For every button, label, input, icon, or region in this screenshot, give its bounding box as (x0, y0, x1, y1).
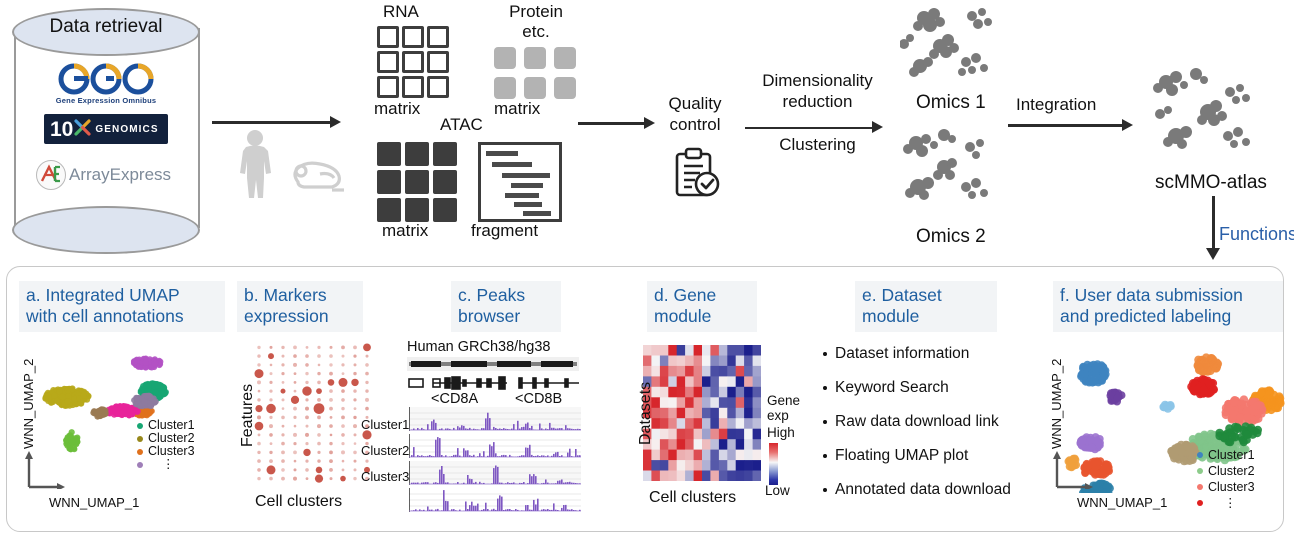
scmmo-atlas-label: scMMO-atlas (1155, 172, 1267, 194)
legend-swatch (137, 423, 143, 429)
functions-panel-container: a. Integrated UMAP with cell annotations… (6, 266, 1284, 532)
panel-c-track-label-3: Cluster3 (361, 469, 409, 484)
panel-f-title[interactable]: f. User data submission and predicted la… (1053, 281, 1283, 332)
panel-d-heatmap[interactable] (643, 345, 761, 481)
panel-c-gene-cd8b: <CD8B (515, 391, 562, 407)
panel-d-colorbar-high: High (767, 425, 795, 440)
panel-b-ylabel: Features (239, 384, 257, 447)
arrow-omics-to-qc (578, 122, 648, 125)
protein-matrix-icon (494, 47, 576, 99)
scmmo-atlas-cluster-icon (1148, 60, 1274, 170)
panel-a-ylabel: WNN_UMAP_2 (21, 359, 36, 449)
omics2-cluster-icon (900, 125, 1036, 211)
data-retrieval-title: Data retrieval (8, 16, 204, 38)
legend-item: ⋮ (137, 458, 195, 471)
list-item[interactable]: Dataset information (823, 345, 1053, 362)
omics2-label: Omics 2 (916, 226, 986, 248)
legend-item: Cluster1 (1197, 447, 1255, 463)
mouse-silhouette-icon (284, 152, 346, 203)
panel-f-ylabel: WNN_UMAP_2 (1049, 359, 1064, 449)
panel-a-legend[interactable]: Cluster1 Cluster2 Cluster3 ⋮ (137, 419, 195, 471)
atac-title: ATAC (440, 115, 483, 135)
quality-control-label: Quality control (652, 93, 738, 135)
panel-c-track-label-2: Cluster2 (361, 443, 409, 458)
list-item[interactable]: Raw data download link (823, 413, 1053, 430)
panel-b-xlabel: Cell clusters (255, 493, 342, 511)
tenx-genomics-logo: 10 GENOMICS (44, 114, 168, 144)
panel-f-legend[interactable]: Cluster1 Cluster2 Cluster3 ⋮ (1197, 447, 1255, 511)
arrayexpress-logo: ArrayExpress (36, 158, 184, 192)
rna-matrix-caption: matrix (374, 99, 420, 119)
panel-d-colorbar (769, 443, 778, 485)
legend-swatch (137, 449, 143, 455)
legend-swatch (1197, 452, 1203, 458)
panel-b-title[interactable]: b. Markers expression (237, 281, 363, 332)
geo-logo-caption: Gene Expression Omnibus (48, 96, 164, 105)
panel-c-gene-cd8a: <CD8A (431, 391, 478, 407)
list-item-label: Dataset information (835, 345, 969, 362)
list-item[interactable]: Keyword Search (823, 379, 1053, 396)
data-retrieval-cylinder: Data retrieval Gene Expression Omnibus 1… (8, 6, 204, 252)
bullet-icon (823, 488, 827, 492)
atac-matrix-caption: matrix (382, 221, 428, 241)
legend-item: Cluster3 (1197, 479, 1255, 495)
panel-c-genome-label: Human GRCh38/hg38 (407, 339, 550, 355)
fragment-file-icon (478, 142, 562, 222)
protein-title: Protein etc. (492, 2, 580, 42)
human-silhouette-icon (232, 128, 278, 205)
list-item[interactable]: Floating UMAP plot (823, 447, 1053, 464)
arrow-integration-head-icon (1122, 119, 1133, 131)
panel-b-dotplot[interactable] (253, 343, 373, 483)
list-item-label: Raw data download link (835, 413, 999, 430)
panel-a-axes-icon (21, 449, 67, 489)
functions-label: Functions (1219, 224, 1294, 245)
arrow-clustering-head-icon (872, 121, 883, 133)
arrow-qc-to-omics (745, 127, 877, 129)
bullet-icon (823, 454, 827, 458)
atac-matrix-icon (377, 142, 457, 222)
dimensionality-reduction-label: Dimensionality reduction (745, 70, 890, 112)
tenx-x-mark (74, 119, 91, 140)
legend-label: ⋮ (148, 458, 175, 471)
legend-swatch (137, 462, 143, 468)
legend-item: ⋮ (1197, 495, 1255, 511)
legend-swatch (1197, 500, 1203, 506)
legend-label: Cluster3 (1208, 479, 1255, 495)
legend-item: Cluster2 (1197, 463, 1255, 479)
clustering-label: Clustering (745, 135, 890, 155)
clipboard-check-icon (672, 147, 722, 204)
list-item-label: Floating UMAP plot (835, 447, 968, 464)
omics1-cluster-icon (900, 2, 1036, 88)
list-item-label: Annotated data download (835, 481, 1011, 498)
arrow-functions-head-icon (1206, 248, 1220, 260)
legend-swatch (1197, 468, 1203, 474)
arrayexpress-mark-icon (36, 160, 66, 190)
list-item-label: Keyword Search (835, 379, 949, 396)
arrow-functions-line (1212, 196, 1215, 252)
rna-matrix-icon (377, 26, 449, 98)
legend-swatch (1197, 484, 1203, 490)
panel-d-ylabel: Datasets (637, 382, 655, 445)
legend-label: ⋮ (1208, 495, 1237, 511)
omics1-label: Omics 1 (916, 92, 986, 114)
protein-matrix-caption: matrix (494, 99, 540, 119)
panel-d-colorbar-title: Gene exp (767, 393, 800, 423)
rna-title: RNA (383, 2, 419, 22)
panel-d-xlabel: Cell clusters (649, 489, 736, 507)
fragment-caption: fragment (471, 221, 538, 241)
panel-a-xlabel: WNN_UMAP_1 (49, 495, 139, 510)
tenx-number: 10 (50, 119, 73, 140)
integration-label: Integration (1016, 95, 1096, 115)
panel-c-track-label-1: Cluster1 (361, 417, 409, 432)
panel-c-peak-tracks[interactable] (409, 407, 581, 519)
bullet-icon (823, 420, 827, 424)
panel-e-title[interactable]: e. Dataset module (855, 281, 997, 332)
legend-label: Cluster2 (1208, 463, 1255, 479)
tenx-genomics-word: GENOMICS (95, 124, 158, 135)
arrow-retrieval-head-icon (330, 116, 341, 128)
cylinder-bottom (12, 206, 200, 254)
panel-d-title[interactable]: d. Gene module (647, 281, 757, 332)
bullet-icon (823, 352, 827, 356)
panel-d-colorbar-low: Low (765, 483, 790, 498)
geo-logo: Gene Expression Omnibus (48, 62, 164, 106)
arrow-integration (1008, 124, 1126, 127)
legend-swatch (137, 436, 143, 442)
arrayexpress-label: ArrayExpress (69, 165, 171, 185)
panel-e-feature-list: Dataset information Keyword Search Raw d… (823, 345, 1053, 515)
list-item[interactable]: Annotated data download (823, 481, 1053, 498)
panel-a-title[interactable]: a. Integrated UMAP with cell annotations (19, 281, 225, 332)
bullet-icon (823, 386, 827, 390)
legend-label: Cluster1 (1208, 447, 1255, 463)
arrow-retrieval-to-omics (212, 121, 334, 124)
panel-f-xlabel: WNN_UMAP_1 (1077, 495, 1167, 510)
panel-f-axes-icon (1049, 449, 1095, 489)
panel-c-title[interactable]: c. Peaks browser (451, 281, 561, 332)
